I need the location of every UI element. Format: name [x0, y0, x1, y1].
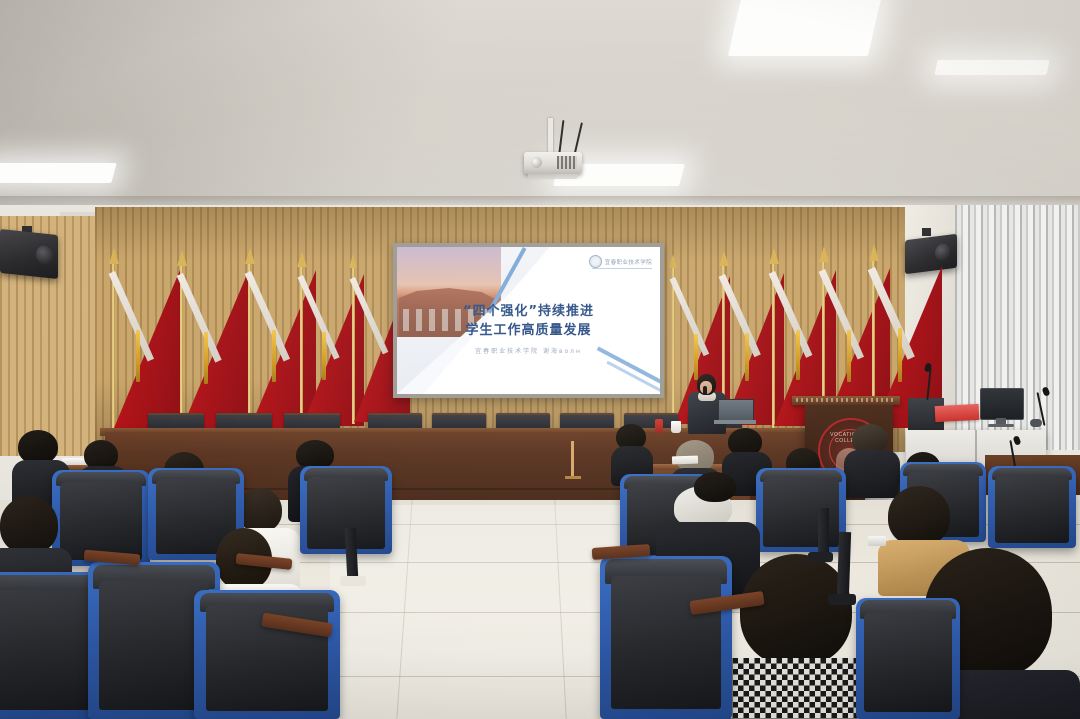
handheld-microphone — [703, 386, 707, 395]
slide-logo-text: 宜春职业技术学院 — [605, 258, 652, 266]
speaker-bracket-right — [922, 228, 931, 236]
auditorium-seat[interactable] — [988, 466, 1076, 548]
shoe — [340, 576, 366, 586]
shoe — [808, 552, 833, 562]
slide-title-line1: “四个强化”持续推进 — [397, 300, 660, 319]
table-microphone-base — [565, 476, 581, 479]
person-leg — [818, 508, 829, 556]
panel-light — [0, 163, 117, 183]
slide-logo-rule — [592, 268, 652, 269]
auditorium-seat[interactable] — [856, 598, 960, 719]
auditorium-seat[interactable] — [194, 590, 340, 719]
presenter-laptop-base — [714, 420, 756, 424]
control-desk-monitor[interactable] — [980, 388, 1024, 420]
water-cup — [671, 421, 681, 433]
thermos-bottle — [655, 419, 663, 433]
projector-foot — [528, 174, 578, 179]
person-leg — [837, 532, 851, 598]
slide-subtitle: 宜春职业技术学院 谢海волн — [397, 346, 660, 355]
monitor-base — [988, 424, 1014, 427]
presenter-laptop-screen — [718, 399, 754, 422]
projector-ports — [557, 156, 577, 169]
slide-logo: 宜春职业技术学院 — [589, 255, 652, 268]
notebook — [672, 456, 698, 465]
college-seal-logo-icon — [589, 255, 602, 268]
panel-light — [934, 60, 1049, 75]
podium-banner-text — [796, 398, 896, 402]
computer-mouse[interactable] — [1030, 419, 1042, 427]
auditorium-seat[interactable] — [756, 468, 846, 552]
auditorium-seat[interactable] — [600, 556, 732, 719]
projection-screen: “四个强化”持续推进 学生工作高质量发展 宜春职业技术学院 谢海волн 宜春职… — [397, 247, 660, 394]
table-microphone-stand — [571, 441, 574, 477]
ceremonial-flag — [180, 254, 258, 430]
shoe — [828, 594, 856, 605]
smartphone[interactable] — [868, 536, 886, 546]
wall-speaker-left — [0, 229, 58, 279]
ceiling — [0, 0, 1080, 232]
conference-hall-photo: “四个强化”持续推进 学生工作高质量发展 宜春职业技术学院 谢海волн 宜春职… — [0, 0, 1080, 719]
projector-lens — [531, 157, 542, 168]
slide-title-line2: 学生工作高质量发展 — [397, 319, 660, 338]
projector-mount-pole — [548, 118, 553, 154]
red-documents — [935, 404, 980, 422]
panel-light — [728, 0, 882, 56]
